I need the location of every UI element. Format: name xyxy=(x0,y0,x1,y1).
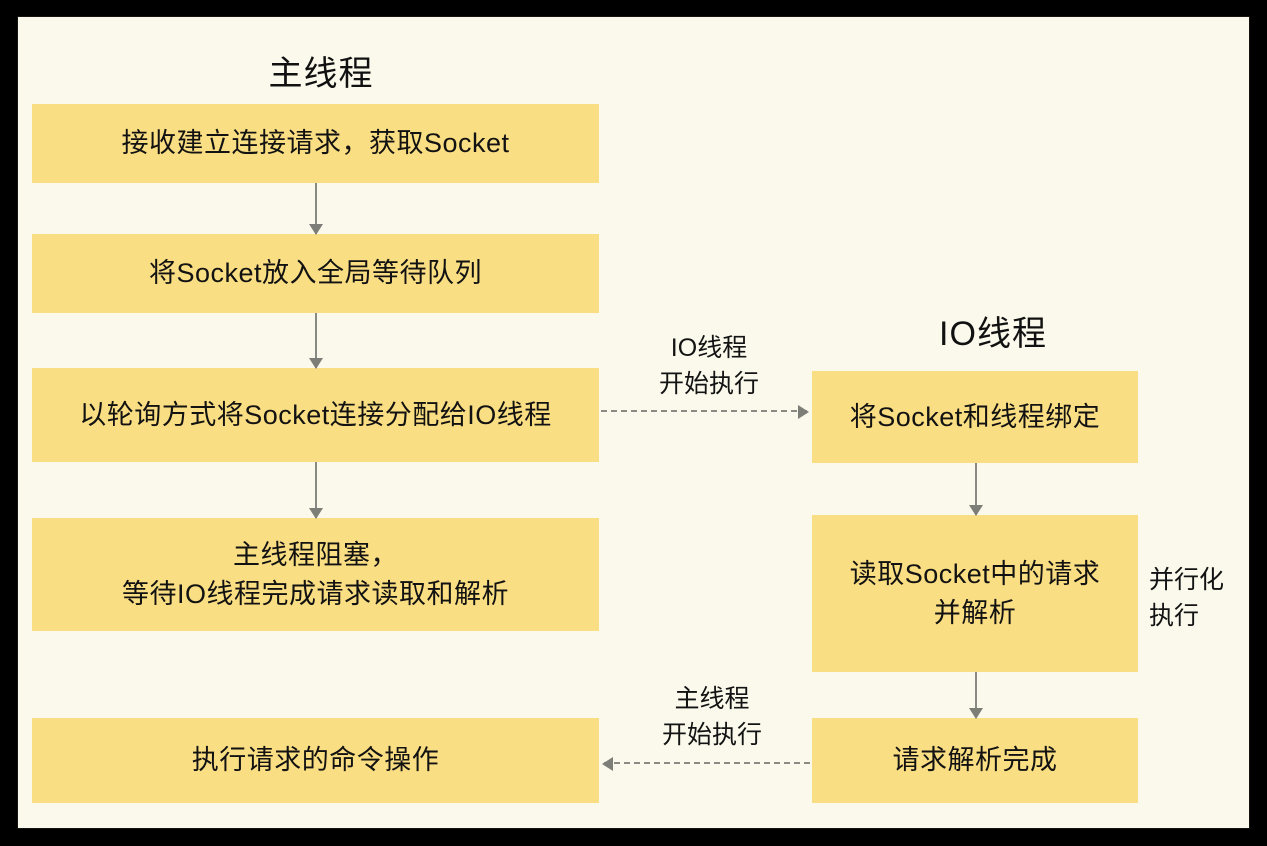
edge-label-io-thread-start-line2: 开始执行 xyxy=(629,367,789,403)
node-execute-command-label: 执行请求的命令操作 xyxy=(192,741,440,779)
edge-label-main-thread-start-line2: 开始执行 xyxy=(632,718,792,754)
node-enqueue-socket[interactable]: 将Socket放入全局等待队列 xyxy=(32,234,599,313)
connector-main-to-io-dispatch xyxy=(601,410,807,412)
edge-label-io-thread-start: IO线程 开始执行 xyxy=(629,331,789,402)
node-read-and-parse-label-line2: 并解析 xyxy=(934,594,1017,632)
node-read-and-parse-label-line1: 读取Socket中的请求 xyxy=(850,555,1101,593)
node-execute-command[interactable]: 执行请求的命令操作 xyxy=(32,718,599,803)
connector-accept-to-enqueue xyxy=(315,183,317,234)
connector-bind-to-read xyxy=(975,463,977,515)
node-main-thread-block-label-line2: 等待IO线程完成请求读取和解析 xyxy=(122,575,509,613)
node-read-and-parse[interactable]: 读取Socket中的请求 并解析 xyxy=(812,515,1138,672)
node-dispatch-socket[interactable]: 以轮询方式将Socket连接分配给IO线程 xyxy=(32,368,599,462)
connector-read-to-parse-done xyxy=(975,672,977,718)
connector-dispatch-to-block xyxy=(315,462,317,518)
lane-title-io-thread: IO线程 xyxy=(873,317,1113,351)
node-dispatch-socket-label: 以轮询方式将Socket连接分配给IO线程 xyxy=(79,396,552,434)
node-parse-complete-label: 请求解析完成 xyxy=(893,741,1058,779)
diagram-canvas: 主线程 IO线程 接收建立连接请求，获取Socket 将Socket放入全局等待… xyxy=(18,17,1249,828)
connector-enqueue-to-dispatch xyxy=(315,313,317,368)
annotation-parallel-execution-line1: 并行化 xyxy=(1149,562,1249,598)
node-accept-connection-label: 接收建立连接请求，获取Socket xyxy=(121,124,509,162)
edge-label-main-thread-start: 主线程 开始执行 xyxy=(632,682,792,753)
edge-label-main-thread-start-line1: 主线程 xyxy=(632,682,792,718)
lane-title-main-thread: 主线程 xyxy=(196,57,446,91)
annotation-parallel-execution: 并行化 执行 xyxy=(1149,562,1249,635)
node-bind-socket-thread-label: 将Socket和线程绑定 xyxy=(850,398,1101,436)
arrow-left-icon xyxy=(602,757,613,771)
node-main-thread-block-label-line1: 主线程阻塞， xyxy=(233,536,398,574)
node-accept-connection[interactable]: 接收建立连接请求，获取Socket xyxy=(32,104,599,183)
connector-io-to-main-complete xyxy=(604,762,810,764)
arrow-right-icon xyxy=(798,405,809,419)
edge-label-io-thread-start-line1: IO线程 xyxy=(629,331,789,367)
node-parse-complete[interactable]: 请求解析完成 xyxy=(812,718,1138,803)
node-main-thread-block[interactable]: 主线程阻塞， 等待IO线程完成请求读取和解析 xyxy=(32,518,599,631)
node-enqueue-socket-label: 将Socket放入全局等待队列 xyxy=(149,254,482,292)
annotation-parallel-execution-line2: 执行 xyxy=(1149,598,1249,634)
node-bind-socket-thread[interactable]: 将Socket和线程绑定 xyxy=(812,371,1138,463)
